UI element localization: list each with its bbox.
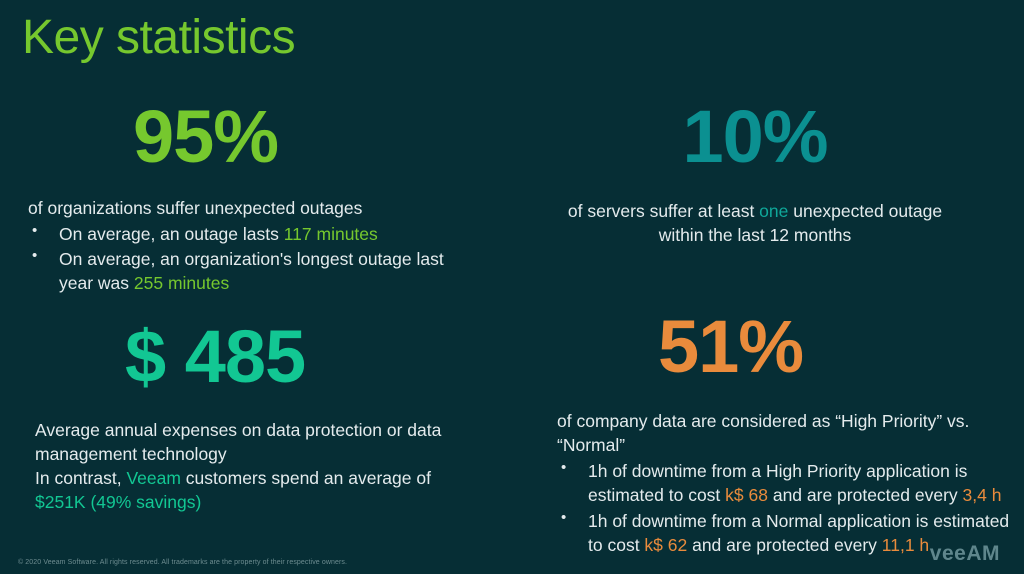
- contrast-highlight: $251K (49% savings): [35, 492, 201, 512]
- stat-lead-outages: of organizations suffer unexpected outag…: [28, 196, 470, 220]
- bullet-text-part2: and are protected every: [687, 535, 882, 555]
- bullet-highlight-interval: 3,4 h: [963, 485, 1002, 505]
- stat-value-expenses: $ 485: [0, 320, 480, 394]
- stat-body-priority: of company data are considered as “High …: [540, 409, 1020, 557]
- list-item: On average, an outage lasts 117 minutes: [28, 222, 470, 246]
- veeam-logo-lower: vee: [930, 542, 967, 565]
- contrast-text-part1: In contrast,: [35, 468, 126, 488]
- stat-block-outages: 95% of organizations suffer unexpected o…: [0, 100, 470, 296]
- bullet-text: On average, an outage lasts: [59, 224, 284, 244]
- bullet-highlight: 117 minutes: [284, 224, 378, 244]
- bullet-highlight-cost: k$ 68: [725, 485, 768, 505]
- lead-text-part1: of servers suffer at least: [568, 201, 759, 221]
- veeam-logo: veeam: [930, 543, 1000, 564]
- bullet-highlight-interval: 11,1 h: [882, 535, 929, 555]
- copyright-notice: © 2020 Veeam Software. All rights reserv…: [18, 559, 347, 566]
- stat-block-servers: 10% of servers suffer at least one unexp…: [545, 100, 965, 247]
- bullet-text: On average, an organization's longest ou…: [59, 249, 444, 293]
- bullet-highlight-cost: k$ 62: [644, 535, 687, 555]
- bullet-text-part2: and are protected every: [768, 485, 963, 505]
- stat-body-expenses: Average annual expenses on data protecti…: [0, 418, 480, 515]
- stat-value-servers: 10%: [545, 100, 965, 174]
- stat-contrast-expenses: In contrast, Veeam customers spend an av…: [35, 466, 480, 514]
- contrast-text-part2: customers spend an average of: [181, 468, 431, 488]
- page-title: Key statistics: [22, 8, 295, 68]
- stat-block-expenses: $ 485 Average annual expenses on data pr…: [0, 320, 480, 515]
- stat-bullets-outages: On average, an outage lasts 117 minutes …: [28, 222, 470, 295]
- stat-lead-expenses: Average annual expenses on data protecti…: [35, 418, 480, 466]
- stat-value-outages: 95%: [0, 100, 470, 174]
- brand-name-veeam: Veeam: [126, 468, 180, 488]
- stat-value-priority: 51%: [540, 310, 1020, 384]
- list-item: 1h of downtime from a High Priority appl…: [557, 459, 1020, 507]
- lead-highlight: one: [759, 201, 788, 221]
- bullet-highlight: 255 minutes: [134, 273, 229, 293]
- stat-block-priority: 51% of company data are considered as “H…: [540, 310, 1020, 557]
- list-item: On average, an organization's longest ou…: [28, 247, 470, 295]
- stat-body-outages: of organizations suffer unexpected outag…: [0, 196, 470, 296]
- stat-body-servers: of servers suffer at least one unexpecte…: [545, 199, 965, 247]
- stat-lead-servers: of servers suffer at least one unexpecte…: [545, 199, 965, 247]
- stat-lead-priority: of company data are considered as “High …: [557, 409, 1020, 457]
- slide-canvas: Key statistics 95% of organizations suff…: [0, 0, 1024, 574]
- veeam-logo-upper: am: [966, 542, 1000, 565]
